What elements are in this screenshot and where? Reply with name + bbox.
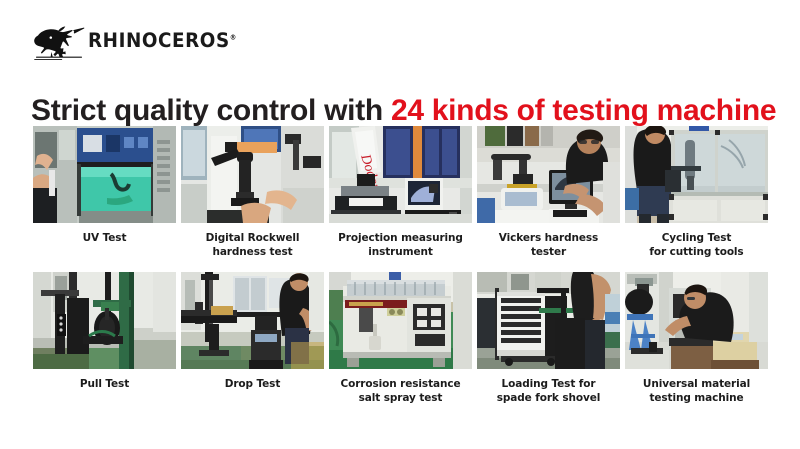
caption-line-1: Loading Test for <box>502 378 596 390</box>
gallery-item[interactable]: Dodong <box>329 126 472 260</box>
gallery-item[interactable]: UV Test <box>33 126 176 260</box>
caption-line-1: Pull Test <box>80 378 129 390</box>
testing-machine-gallery: UV Test <box>33 126 769 405</box>
caption-line-1: Vickers hardness <box>499 232 598 244</box>
loading-test-rack-photo <box>477 272 620 369</box>
caption-line-2: salt spray test <box>329 392 472 406</box>
caption-line-1: Corrosion resistance <box>340 378 460 390</box>
page-title-highlight: 24 kinds of testing machine <box>391 94 776 127</box>
universal-material-testing-machine-photo <box>625 272 768 369</box>
rhinoceros-logo-icon <box>30 21 92 61</box>
pull-test-rig-photo <box>33 272 176 369</box>
caption-line-2: instrument <box>329 246 472 260</box>
caption-line-2: hardness test <box>181 246 324 260</box>
gallery-item[interactable]: Loading Test for spade fork shovel <box>477 272 620 406</box>
caption-line-2: for cutting tools <box>625 246 768 260</box>
gallery-item[interactable]: Pull Test <box>33 272 176 406</box>
caption-line-1: Cycling Test <box>662 232 732 244</box>
gallery-item-caption: Pull Test <box>33 378 176 392</box>
gallery-item-caption: Projection measuring instrument <box>329 232 472 260</box>
gallery-item[interactable]: Drop Test <box>181 272 324 406</box>
caption-line-1: UV Test <box>83 232 127 244</box>
vickers-hardness-tester-photo <box>477 126 620 223</box>
gallery-item-caption: UV Test <box>33 232 176 246</box>
gallery-row: Pull Test <box>33 272 769 406</box>
gallery-item-caption: Drop Test <box>181 378 324 392</box>
page-title: Strict quality control with 24 kinds of … <box>31 94 776 127</box>
brand-logo: RHINOCEROS® <box>30 20 220 62</box>
drop-test-rig-photo <box>181 272 324 369</box>
gallery-item[interactable]: Universal material testing machine <box>625 272 768 406</box>
brand-wordmark: RHINOCEROS® <box>88 31 237 51</box>
caption-line-2: spade fork shovel <box>477 392 620 406</box>
registered-mark: ® <box>230 34 237 42</box>
gallery-item-caption: Vickers hardness tester <box>477 232 620 260</box>
gallery-item[interactable]: Cycling Test for cutting tools <box>625 126 768 260</box>
gallery-item-caption: Corrosion resistance salt spray test <box>329 378 472 406</box>
caption-line-1: Projection measuring <box>338 232 463 244</box>
uv-test-chamber-photo <box>33 126 176 223</box>
brand-name-text: RHINOCEROS <box>88 29 230 52</box>
caption-line-2: tester <box>477 246 620 260</box>
gallery-item-caption: Digital Rockwell hardness test <box>181 232 324 260</box>
gallery-item[interactable]: Corrosion resistance salt spray test <box>329 272 472 406</box>
gallery-row: UV Test <box>33 126 769 260</box>
cycling-test-machine-photo <box>625 126 768 223</box>
caption-line-1: Digital Rockwell <box>206 232 300 244</box>
salt-spray-chamber-photo <box>329 272 472 369</box>
gallery-item-caption: Loading Test for spade fork shovel <box>477 378 620 406</box>
digital-rockwell-hardness-tester-photo <box>181 126 324 223</box>
slide-root: RHINOCEROS® Strict quality control with … <box>0 0 800 449</box>
gallery-item-caption: Cycling Test for cutting tools <box>625 232 768 260</box>
page-title-lead: Strict quality control with <box>31 94 391 127</box>
gallery-item-caption: Universal material testing machine <box>625 378 768 406</box>
caption-line-1: Universal material <box>643 378 750 390</box>
caption-line-2: testing machine <box>625 392 768 406</box>
gallery-item[interactable]: Vickers hardness tester <box>477 126 620 260</box>
projection-measuring-instrument-photo: Dodong <box>329 126 472 223</box>
caption-line-1: Drop Test <box>225 378 281 390</box>
gallery-item[interactable]: Digital Rockwell hardness test <box>181 126 324 260</box>
